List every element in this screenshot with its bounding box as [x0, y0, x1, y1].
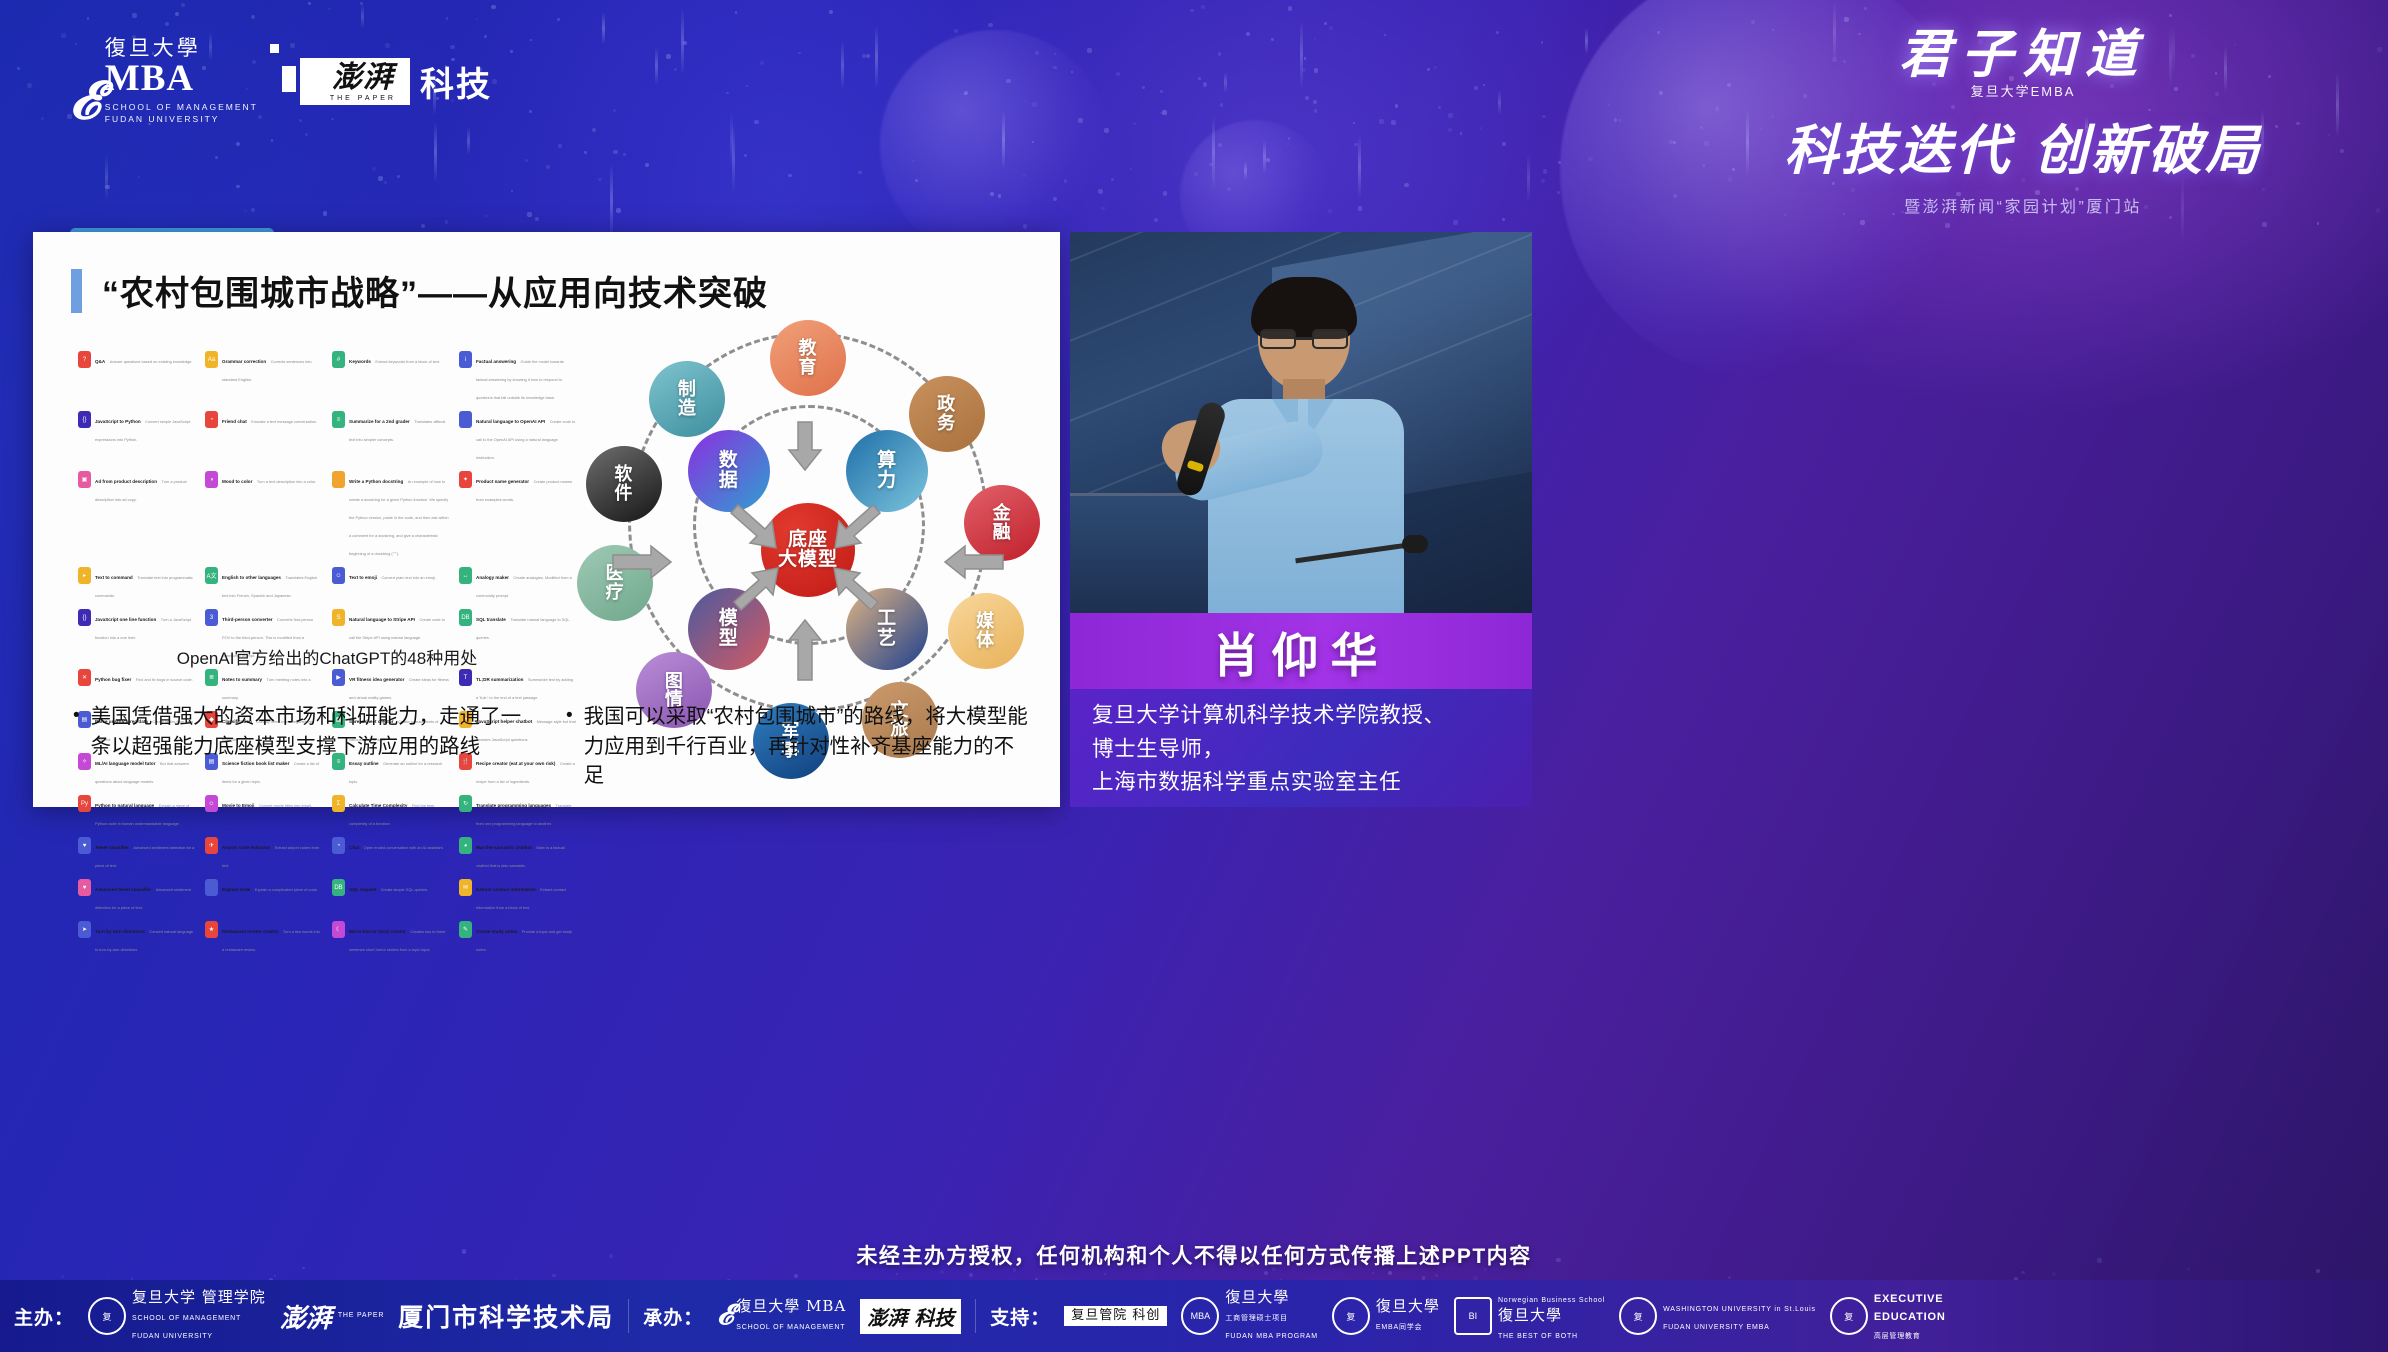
bullet-text: 美国凭借强大的资本市场和科研能力，走通了一条以超强能力底座模型支撑下游应用的路线 — [91, 702, 540, 791]
use-case-title: Translate programming languages — [476, 803, 551, 808]
use-case-description: Convert plain text into an emoji. — [381, 575, 436, 580]
speaker-figure — [1180, 283, 1430, 613]
thepaper-tech-label: 科技 — [420, 57, 492, 106]
use-case-icon: Aa — [205, 351, 218, 368]
bullet-marker: • — [73, 702, 80, 791]
sponsor-logo-fudan-kechuang: 复旦管院 科创 — [1064, 1306, 1167, 1326]
use-case-title: Ad from product description — [95, 479, 157, 484]
use-case-title: Mar-the-sarcastic chatbot — [476, 845, 532, 850]
event-note: 暨澎湃新闻“家园计划”厦门站 — [1713, 193, 2333, 217]
divider — [975, 1299, 976, 1333]
use-case-title: Extract contact information — [476, 887, 536, 892]
fudan-emblem-icon: 𝓔 — [70, 79, 97, 126]
use-case-icon: ≣ — [205, 669, 218, 686]
use-case-icon: DB — [332, 879, 345, 896]
use-case-card: ▣ Ad from product description Turn a pro… — [77, 467, 196, 563]
use-case-card: {} JavaScript to Python Convert simple J… — [77, 407, 196, 467]
use-case-title: JavaScript to Python — [95, 419, 141, 424]
use-case-card: A文 English to other languages Translates… — [204, 563, 323, 605]
use-case-description: Convert movie titles into emoji. — [259, 803, 312, 808]
event-logo-subtitle: 复旦大学EMBA — [1713, 81, 2333, 100]
sponsor-logo-fudan-emba-alumni: 复 復旦大學 EMBA同学会 — [1332, 1297, 1440, 1335]
use-case-description: Turn a text description into a color. — [257, 479, 316, 484]
use-case-description: Open ended conversation with an AI assis… — [364, 845, 444, 850]
presentation-slide: “农村包围城市战略”——从应用向技术突破 ? Q&A Answer questi… — [33, 232, 1060, 807]
fudan-logo-en-2: FUDAN UNIVERSITY — [105, 113, 258, 125]
event-logo: 君子知道 复旦大学EMBA 科技迭代 创新破局 暨澎湃新闻“家园计划”厦门站 — [1713, 28, 2333, 217]
sponsor-name-en: Norwegian Business School — [1498, 1297, 1605, 1304]
fudan-seal-icon: 复 — [1332, 1297, 1370, 1335]
use-case-title: Q&A — [95, 359, 105, 364]
use-case-icon: {} — [78, 609, 91, 626]
use-case-icon: # — [332, 351, 345, 368]
use-case-icon: ↔ — [459, 567, 472, 584]
use-case-card: ↔ Analogy maker Create analogies. Modifi… — [458, 563, 577, 605]
sponsor-name-cn: 復旦大學 MBA — [736, 1297, 846, 1315]
slide-bullets: • 美国凭借强大的资本市场和科研能力，走通了一条以超强能力底座模型支撑下游应用的… — [73, 702, 1033, 791]
use-case-description: Answer questions based on existing knowl… — [110, 359, 193, 364]
slide-title: “农村包围城市战略”——从应用向技术突破 — [102, 266, 768, 315]
use-case-icon: ✦ — [459, 471, 472, 488]
ecosystem-diagram: 底座大模型 数据 算力 工艺 模型 教育 政务 金融 媒体 文旅 军事 图情 医… — [573, 310, 1043, 740]
use-case-card: ✦ Product name generator Create product … — [458, 467, 577, 563]
use-case-icon: Σ — [332, 795, 345, 812]
use-case-card: ✈ Airport code extractor Extract airport… — [204, 833, 323, 875]
use-case-icon — [459, 411, 472, 428]
speaker-bio-line: 上海市数据科学重点实验室主任 — [1092, 766, 1532, 800]
use-case-card: i Factual answering Guide the model towa… — [458, 347, 577, 407]
use-case-card: Write a Python docstring An example of h… — [331, 467, 450, 563]
use-case-title: Advanced tweet classifier — [95, 887, 151, 892]
use-case-card: Py Python to natural language Explain a … — [77, 791, 196, 833]
use-case-icon: ◔ — [205, 411, 218, 428]
sponsor-name-en: SCHOOL OF MANAGEMENT — [736, 1324, 845, 1331]
use-case-card: ↻ Translate programming languages Transl… — [458, 791, 577, 833]
use-case-icon: ➤ — [78, 921, 91, 938]
use-case-icon: ▣ — [78, 471, 91, 488]
use-case-card: ♥ Tweet classifier Advanced sentiment de… — [77, 833, 196, 875]
use-case-title: Tweet classifier — [95, 845, 129, 850]
use-case-title: JavaScript one line function — [95, 617, 156, 622]
thepaper-logo-cn: 澎湃 — [332, 63, 394, 93]
use-case-title: Analogy maker — [476, 575, 509, 580]
sponsor-name-cn: 復旦大學 — [1376, 1297, 1440, 1315]
use-case-icon: {} — [78, 411, 91, 428]
use-case-title: Calculate Time Complexity — [349, 803, 407, 808]
use-case-card: Σ Calculate Time Complexity Find the tim… — [331, 791, 450, 833]
sponsor-name-cn: 复旦管院 科创 — [1071, 1309, 1160, 1323]
use-case-description: Emulate a text message conversation. — [251, 419, 317, 424]
sponsor-name-cn: 復旦大學 — [1225, 1288, 1289, 1306]
sponsor-logo-bi-norwegian: BI Norwegian Business School 復旦大學 THE BE… — [1454, 1289, 1605, 1343]
use-case-title: SQL translate — [476, 617, 506, 622]
sponsor-name-en: THE PAPER — [338, 1312, 384, 1321]
sponsor-logo-washu-fudan-emba: 复 WASHINGTON UNIVERSITY in St.Louis FUDA… — [1619, 1297, 1816, 1335]
use-case-icon: 3 — [205, 609, 218, 626]
sponsor-logo-executive-education: 复 EXECUTIVE EDUCATION 高层管理教育 — [1830, 1289, 1946, 1343]
sponsor-logo-fudan-mba-program: MBA 復旦大學 工商管理硕士项目 FUDAN MBA PROGRAM — [1181, 1289, 1318, 1343]
use-case-card: ◑ Mood to color Turn a text description … — [204, 467, 323, 563]
use-case-card: # Keywords Extract keywords from a block… — [331, 347, 450, 407]
sponsor-name-en: SCHOOL OF MANAGEMENT — [132, 1315, 241, 1322]
use-case-title: Friend chat — [222, 419, 247, 424]
sponsor-logo-xiamen-sti: 厦门市科学技术局 — [398, 1298, 614, 1334]
use-case-title: Mood to color — [222, 479, 252, 484]
use-case-card: ➤ Turn by turn directions Convert natura… — [77, 917, 196, 959]
use-case-title: SQL request — [349, 887, 376, 892]
speaker-name: 肖仰华 — [1213, 617, 1390, 686]
use-case-card: Aa Grammar correction Corrects sentences… — [204, 347, 323, 407]
fudan-logo-mba: MBA — [105, 60, 258, 97]
sponsor-name-en: FUDAN MBA PROGRAM — [1225, 1333, 1318, 1340]
sponsor-logo-fudan-mba: 𝓔 復旦大學 MBA SCHOOL OF MANAGEMENT — [717, 1298, 846, 1334]
sponsor-name-en: 工商管理硕士项目 — [1225, 1315, 1287, 1322]
fudan-som-logo: 𝓔 復旦大學 MBA SCHOOL OF MANAGEMENT FUDAN UN… — [70, 38, 258, 126]
fudan-seal-icon: 复 — [88, 1297, 126, 1335]
use-case-title: Python bug fixer — [95, 677, 131, 682]
use-case-title: Notes to summary — [222, 677, 262, 682]
use-case-icon: ◔ — [332, 837, 345, 854]
use-case-card: ▶ VR fitness idea generator Create ideas… — [331, 665, 450, 707]
sponsor-name-cn: 高层管理教育 — [1874, 1333, 1921, 1340]
sponsor-name-en: THE BEST OF BOTH — [1498, 1333, 1578, 1340]
use-case-title: Natural language to Stripe API — [349, 617, 415, 622]
use-case-description: Create code to call to the OpenAI API us… — [476, 419, 575, 460]
thepaper-logo-en: THE PAPER — [330, 95, 396, 102]
use-case-title: Grammar correction — [222, 359, 266, 364]
use-case-icon: ☺ — [332, 567, 345, 584]
use-case-title: Micro-horror story creator — [349, 929, 406, 934]
use-case-title: Turn by turn directions — [95, 929, 145, 934]
use-case-description: Explain a complicated piece of code. — [255, 887, 318, 892]
use-case-icon: ☺ — [205, 795, 218, 812]
sponsor-name-en: FUDAN UNIVERSITY EMBA — [1663, 1324, 1770, 1331]
use-case-icon: ♥ — [78, 879, 91, 896]
use-case-description: Guide the model towards factual answerin… — [476, 359, 564, 400]
mic-head-icon — [1402, 535, 1428, 553]
speaker-video-feed — [1070, 232, 1532, 613]
use-case-icon: ☾ — [332, 921, 345, 938]
use-case-card: ☺ Text to emoji Convert plain text into … — [331, 563, 450, 605]
use-case-icon: Py — [78, 795, 91, 812]
use-case-title: TL;DR summarization — [476, 677, 523, 682]
sponsor-logo-fudan-som: 复 复旦大学 管理学院 SCHOOL OF MANAGEMENT FUDAN U… — [88, 1289, 266, 1343]
glasses-icon — [1260, 329, 1348, 349]
use-case-title: Airport code extractor — [222, 845, 270, 850]
use-case-card: Explain code Explain a complicated piece… — [204, 875, 323, 917]
use-case-card: ✎ Create study notes Provide a topic and… — [458, 917, 577, 959]
use-case-title: Chat — [349, 845, 359, 850]
use-case-card: ≡ Summarize for a 2nd grader Translates … — [331, 407, 450, 467]
use-case-card: ? Q&A Answer questions based on existing… — [77, 347, 196, 407]
sponsor-name-en: EDUCATION — [1874, 1311, 1946, 1323]
use-case-card: ☺ Movie to Emoji Convert movie titles in… — [204, 791, 323, 833]
use-case-title: Natural language to OpenAI API — [476, 419, 545, 424]
fudan-emblem-icon: 𝓔 — [717, 1303, 730, 1328]
sponsor-logo-thepaper-tech: 澎湃 科技 — [860, 1299, 961, 1334]
use-case-card: ♥ Advanced tweet classifier Advanced sen… — [77, 875, 196, 917]
use-case-title: Text to emoji — [349, 575, 377, 580]
sponsor-logo-thepaper: 澎湃 THE PAPER — [280, 1298, 384, 1335]
speaker-bio: 复旦大学计算机科学技术学院教授、 博士生导师， 上海市数据科学重点实验室主任 — [1070, 689, 1532, 807]
use-case-title: Movie to Emoji — [222, 803, 254, 808]
use-case-icon: i — [459, 351, 472, 368]
event-slogan: 科技迭代 创新破局 — [1713, 106, 2333, 185]
use-case-icon: ★ — [205, 921, 218, 938]
use-case-title: English to other languages — [222, 575, 281, 580]
use-case-description: Find and fix bugs in source code. — [136, 677, 193, 682]
fudan-seal-icon: 复 — [1830, 1297, 1868, 1335]
fudan-logo-en-1: SCHOOL OF MANAGEMENT — [105, 101, 258, 113]
use-case-description: An example of how to create a docstring … — [349, 479, 449, 556]
use-case-card: ◕ Mar-the-sarcastic chatbot Marv is a fa… — [458, 833, 577, 875]
slide-accent-bar — [71, 269, 82, 313]
sponsor-name-en: FUDAN UNIVERSITY — [132, 1333, 213, 1340]
organizer-label: 承办： — [643, 1303, 703, 1330]
use-case-card: DB SQL request Create simple SQL queries… — [331, 875, 450, 917]
use-case-icon: ◕ — [459, 837, 472, 854]
use-case-icon: ✕ — [78, 669, 91, 686]
copyright-notice: 未经主办方授权，任何机构和个人不得以任何方式传播上述PPT内容 — [0, 1240, 2388, 1270]
diagram-arrows — [573, 310, 1043, 740]
use-case-icon: ✈ — [205, 837, 218, 854]
bullet-text: 我国可以采取“农村包围城市”的路线，将大模型能力应用到千行百业，再针对性补齐基座… — [584, 702, 1033, 791]
sponsor-name-cn: 澎湃 — [280, 1298, 332, 1335]
sponsor-name-cn: 复旦大学 管理学院 — [132, 1288, 266, 1306]
divider — [628, 1299, 629, 1333]
use-case-icon: ▸ — [78, 567, 91, 584]
use-case-card: ☾ Micro-horror story creator Creates two… — [331, 917, 450, 959]
broadcast-screen: 𝓔 復旦大學 MBA SCHOOL OF MANAGEMENT FUDAN UN… — [0, 0, 2388, 1352]
use-case-card: ▸ Text to command Translate text into pr… — [77, 563, 196, 605]
use-case-icon: ♥ — [78, 837, 91, 854]
event-logo-title: 君子知道 — [1713, 28, 2333, 83]
use-case-icon: ✉ — [459, 879, 472, 896]
use-case-icon: DB — [459, 609, 472, 626]
fudan-seal-icon: MBA — [1181, 1297, 1219, 1335]
host-label: 主办： — [14, 1303, 74, 1330]
use-case-icon: S — [332, 609, 345, 626]
use-case-icon: ▶ — [332, 669, 345, 686]
use-case-title: Third-person converter — [222, 617, 273, 622]
speaker-bio-line: 复旦大学计算机科学技术学院教授、 — [1092, 699, 1532, 733]
use-case-title: Keywords — [349, 359, 371, 364]
use-case-icon — [205, 879, 218, 896]
use-case-card: ✉ Extract contact information Extract co… — [458, 875, 577, 917]
use-case-title: Python to natural language — [95, 803, 154, 808]
use-case-title: Explain code — [222, 887, 250, 892]
speaker-name-band: 肖仰华 — [1070, 613, 1532, 689]
use-case-title: Create study notes — [476, 929, 517, 934]
uses-caption: OpenAI官方给出的ChatGPT的48种用处 — [77, 644, 577, 669]
use-case-card: ◔ Chat Open ended conversation with an A… — [331, 833, 450, 875]
thepaper-tech-logo: 澎湃 THE PAPER 科技 — [300, 57, 492, 106]
use-case-icon: ↻ — [459, 795, 472, 812]
use-case-description: Create simple SQL queries. — [381, 887, 429, 892]
use-case-card: ◔ Friend chat Emulate a text message con… — [204, 407, 323, 467]
sponsor-name-en: WASHINGTON UNIVERSITY in St.Louis — [1663, 1306, 1816, 1313]
support-label: 支持： — [990, 1303, 1050, 1330]
use-case-card: ★ Restaurant review creator Turn a few w… — [204, 917, 323, 959]
use-case-title: Factual answering — [476, 359, 516, 364]
bullet-marker: • — [566, 702, 573, 791]
use-case-icon: T — [459, 669, 472, 686]
partner-logos: 𝓔 復旦大學 MBA SCHOOL OF MANAGEMENT FUDAN UN… — [70, 38, 492, 126]
use-case-title: VR fitness idea generator — [349, 677, 404, 682]
use-case-card: ✕ Python bug fixer Find and fix bugs in … — [77, 665, 196, 707]
use-case-icon: ≡ — [332, 411, 345, 428]
use-case-title: Summarize for a 2nd grader — [349, 419, 410, 424]
sponsor-name-cn: 厦门市科学技术局 — [398, 1298, 614, 1334]
use-case-title: Text to command — [95, 575, 133, 580]
bullet-item: • 美国凭借强大的资本市场和科研能力，走通了一条以超强能力底座模型支撑下游应用的… — [73, 702, 540, 791]
use-case-card: Natural language to OpenAI API Create co… — [458, 407, 577, 467]
fudan-seal-icon: 复 — [1619, 1297, 1657, 1335]
sponsor-name-cn: 澎湃 科技 — [867, 1302, 954, 1331]
fudan-logo-cn: 復旦大學 — [105, 38, 258, 59]
use-case-icon: A文 — [205, 567, 218, 584]
use-case-title: Product name generator — [476, 479, 529, 484]
use-case-icon: ✎ — [459, 921, 472, 938]
bi-logo-icon: BI — [1454, 1297, 1492, 1335]
use-case-title: Write a Python docstring — [349, 479, 403, 484]
sponsor-name-en: EXECUTIVE — [1874, 1293, 1944, 1305]
use-case-icon: ? — [78, 351, 91, 368]
use-case-icon: ◑ — [205, 471, 218, 488]
sponsor-name-en: EMBA同学会 — [1376, 1324, 1422, 1331]
use-case-description: Extract keywords from a block of text. — [375, 359, 440, 364]
use-case-card: ≣ Notes to summary Turn meeting notes in… — [204, 665, 323, 707]
sponsor-footer: 主办： 复 复旦大学 管理学院 SCHOOL OF MANAGEMENT FUD… — [0, 1280, 2388, 1352]
use-case-icon — [332, 471, 345, 488]
chatgpt-uses-grid: ? Q&A Answer questions based on existing… — [77, 347, 577, 637]
sponsor-name-cn: 復旦大學 — [1498, 1306, 1562, 1324]
bullet-item: • 我国可以采取“农村包围城市”的路线，将大模型能力应用到千行百业，再针对性补齐… — [566, 702, 1033, 791]
use-case-card: T TL;DR summarization Summarize text by … — [458, 665, 577, 707]
speaker-bio-line: 博士生导师， — [1092, 733, 1532, 767]
speaker-panel: 肖仰华 复旦大学计算机科学技术学院教授、 博士生导师， 上海市数据科学重点实验室… — [1070, 232, 1532, 807]
use-case-title: Restaurant review creator — [222, 929, 278, 934]
